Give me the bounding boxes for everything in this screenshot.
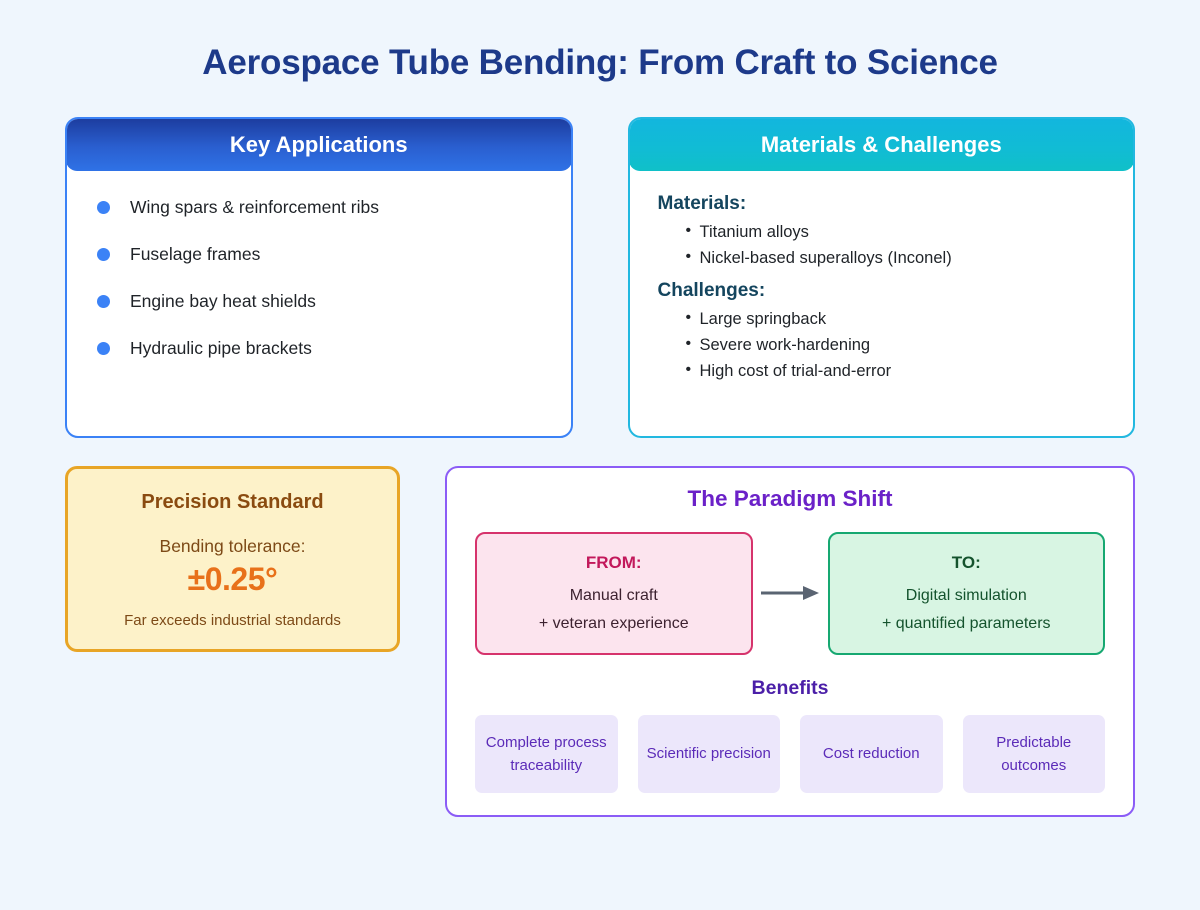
- materials-challenges-card: Materials & Challenges Materials: Titani…: [628, 117, 1136, 438]
- materials-heading: Materials:: [658, 193, 1108, 215]
- list-item-label: Fuselage frames: [130, 244, 260, 265]
- list-item: Fuselage frames: [97, 244, 545, 265]
- list-item-label: Engine bay heat shields: [130, 291, 316, 312]
- from-box-line: + veteran experience: [489, 615, 739, 633]
- top-card-row: Key Applications Wing spars & reinforcem…: [0, 83, 1200, 438]
- benefits-title: Benefits: [475, 677, 1105, 700]
- bullet-dot-icon: [97, 201, 110, 214]
- precision-tolerance-label: Bending tolerance:: [82, 536, 383, 557]
- precision-standard-card: Precision Standard Bending tolerance: ±0…: [65, 466, 400, 652]
- benefit-chip: Scientific precision: [638, 715, 781, 794]
- flow-arrow-container: [753, 583, 828, 603]
- arrow-right-icon: [759, 583, 821, 603]
- to-box-label: TO:: [842, 553, 1092, 573]
- precision-tolerance-value: ±0.25°: [82, 561, 383, 598]
- list-item: Engine bay heat shields: [97, 291, 545, 312]
- list-item: Wing spars & reinforcement ribs: [97, 197, 545, 218]
- to-box-line: + quantified parameters: [842, 615, 1092, 633]
- list-item: High cost of trial-and-error: [686, 362, 1108, 381]
- bottom-card-row: Precision Standard Bending tolerance: ±0…: [0, 438, 1200, 818]
- materials-challenges-header: Materials & Challenges: [629, 118, 1135, 171]
- precision-standard-note: Far exceeds industrial standards: [82, 612, 383, 629]
- list-item-label: Wing spars & reinforcement ribs: [130, 197, 379, 218]
- materials-challenges-body: Materials: Titanium alloys Nickel-based …: [630, 171, 1134, 436]
- bullet-dot-icon: [97, 342, 110, 355]
- list-item: Severe work-hardening: [686, 336, 1108, 355]
- key-applications-body: Wing spars & reinforcement ribs Fuselage…: [67, 171, 571, 436]
- benefits-row: Complete process traceability Scientific…: [475, 715, 1105, 794]
- key-applications-card: Key Applications Wing spars & reinforcem…: [65, 117, 573, 438]
- benefit-chip: Predictable outcomes: [963, 715, 1106, 794]
- key-applications-header: Key Applications: [66, 118, 572, 171]
- challenges-list: Large springback Severe work-hardening H…: [658, 310, 1108, 381]
- list-item: Nickel-based superalloys (Inconel): [686, 249, 1108, 268]
- benefit-chip: Complete process traceability: [475, 715, 618, 794]
- from-box-line: Manual craft: [489, 587, 739, 605]
- challenges-heading: Challenges:: [658, 280, 1108, 302]
- precision-standard-title: Precision Standard: [82, 491, 383, 514]
- paradigm-shift-flow: FROM: Manual craft + veteran experience …: [475, 532, 1105, 655]
- page-title: Aerospace Tube Bending: From Craft to Sc…: [0, 0, 1200, 83]
- list-item-label: Hydraulic pipe brackets: [130, 338, 312, 359]
- list-item: Hydraulic pipe brackets: [97, 338, 545, 359]
- paradigm-shift-title: The Paradigm Shift: [475, 486, 1105, 512]
- bullet-dot-icon: [97, 248, 110, 261]
- benefit-chip: Cost reduction: [800, 715, 943, 794]
- key-applications-list: Wing spars & reinforcement ribs Fuselage…: [97, 197, 545, 359]
- from-box-label: FROM:: [489, 553, 739, 573]
- bullet-dot-icon: [97, 295, 110, 308]
- paradigm-shift-panel: The Paradigm Shift FROM: Manual craft + …: [445, 466, 1135, 818]
- list-item: Large springback: [686, 310, 1108, 329]
- materials-list: Titanium alloys Nickel-based superalloys…: [658, 223, 1108, 268]
- from-box: FROM: Manual craft + veteran experience: [475, 532, 753, 655]
- list-item: Titanium alloys: [686, 223, 1108, 242]
- to-box: TO: Digital simulation + quantified para…: [828, 532, 1106, 655]
- to-box-line: Digital simulation: [842, 587, 1092, 605]
